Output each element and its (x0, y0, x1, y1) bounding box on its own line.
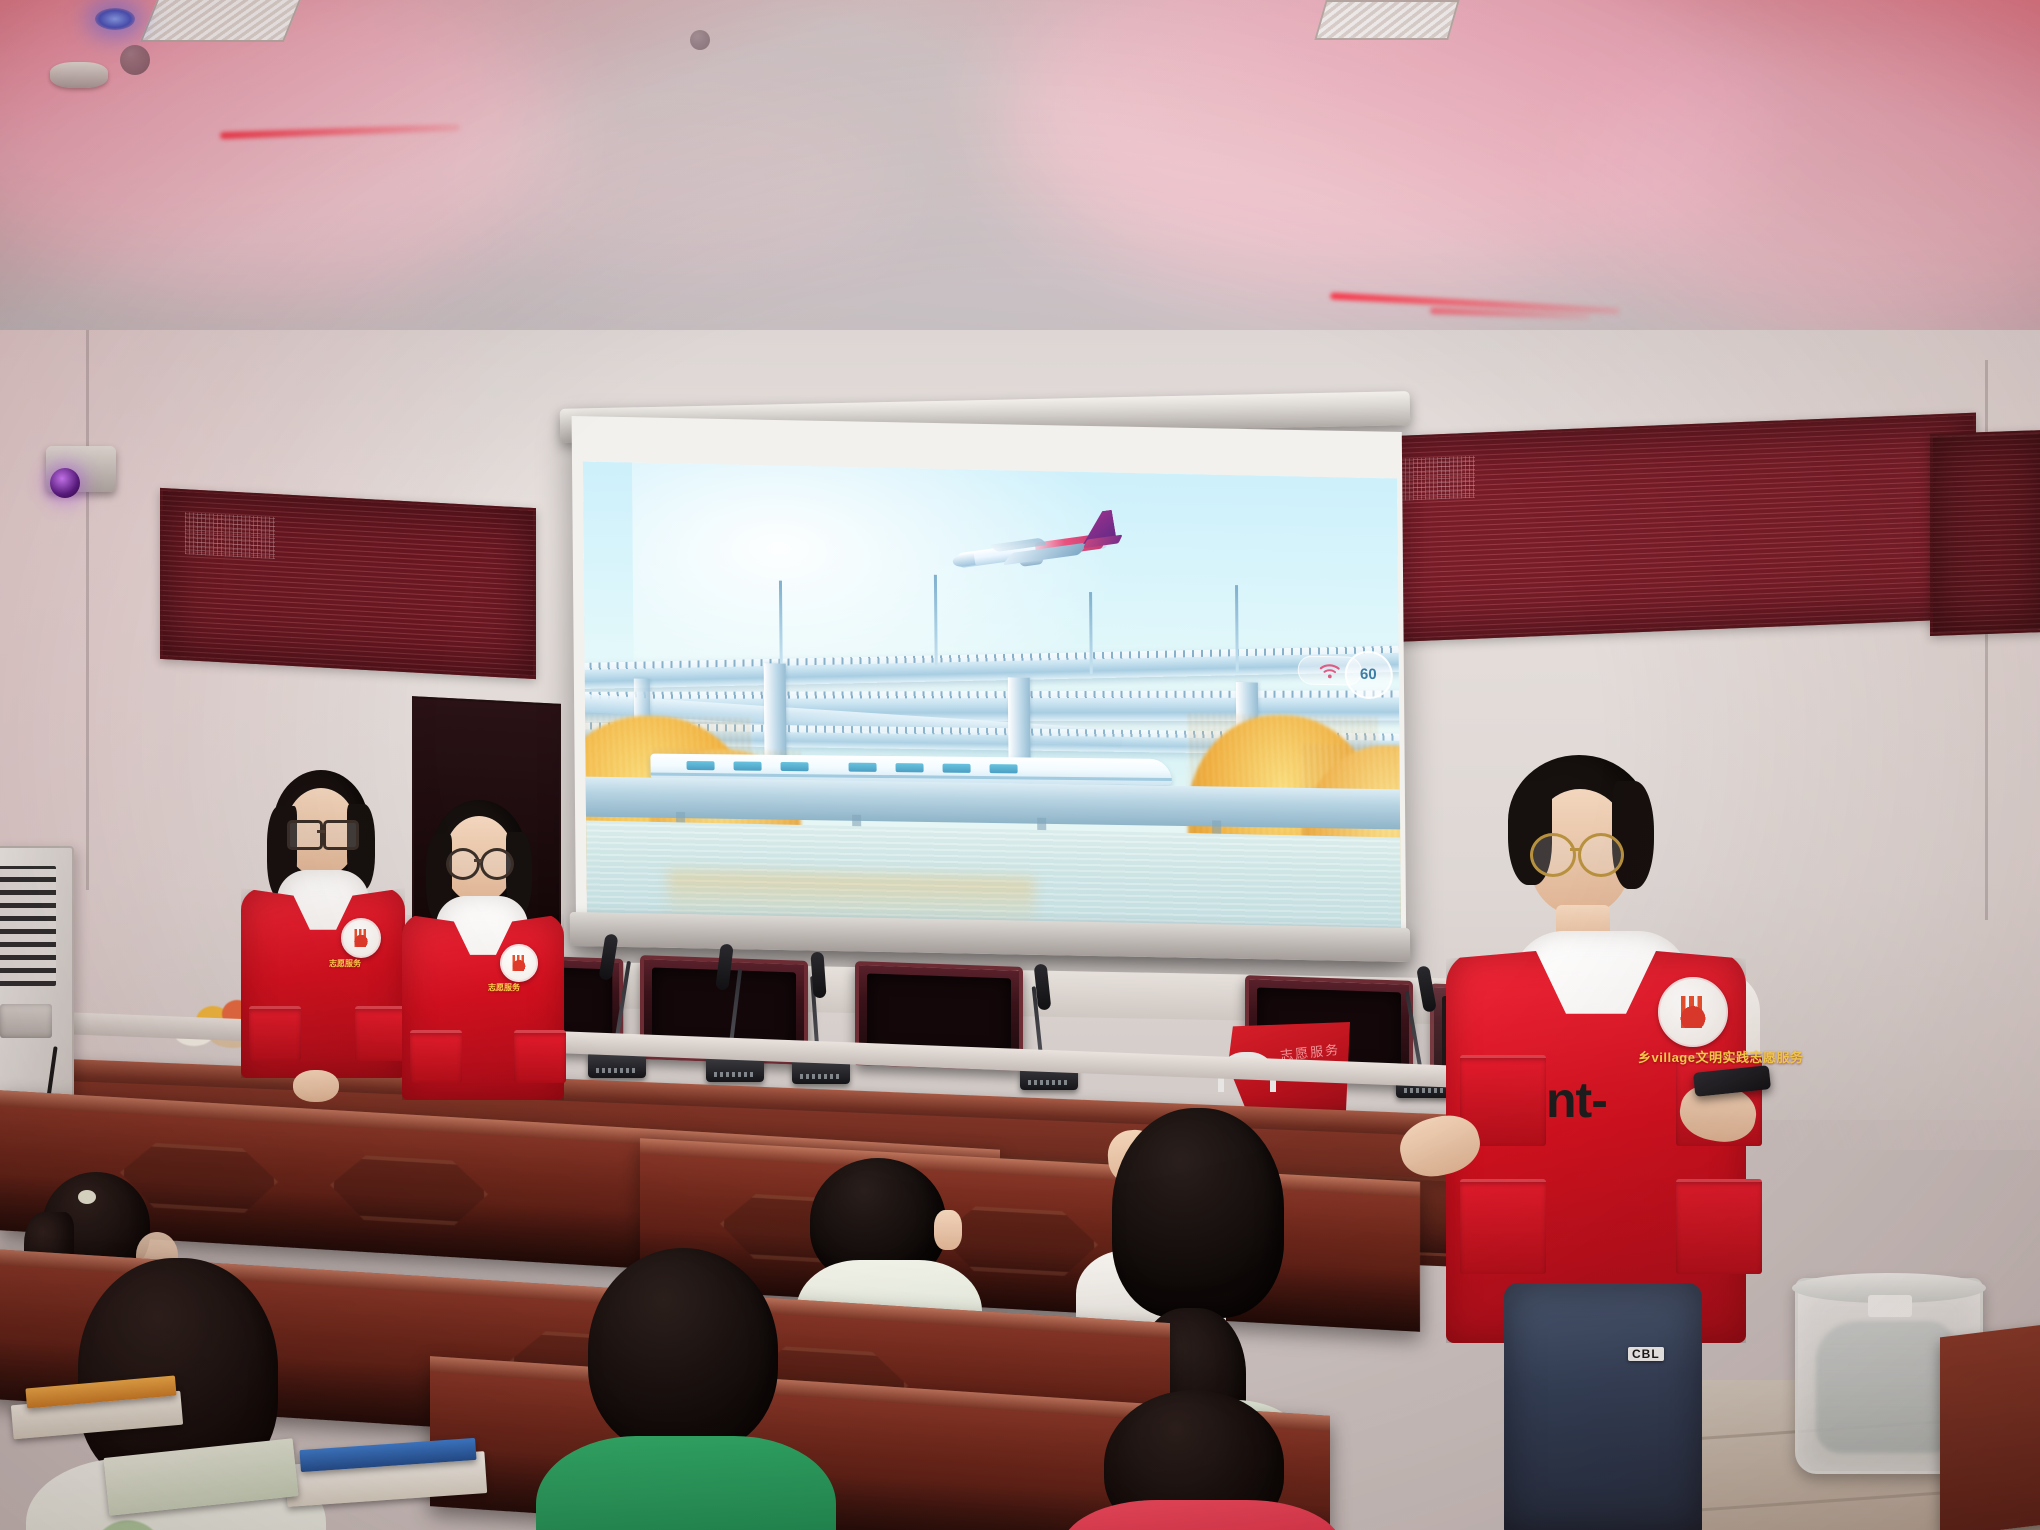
projector-lens-icon (50, 468, 80, 498)
train-window (942, 763, 970, 772)
volunteer-emblem-icon (509, 955, 529, 971)
acoustic-panel-right-edge (1930, 430, 2040, 636)
bin-liner (1816, 1321, 1956, 1453)
glasses-lens (323, 820, 359, 850)
glasses-bridge (474, 859, 482, 862)
air-vent-icon (140, 0, 304, 42)
blue-led-icon (95, 8, 135, 30)
train-window (989, 764, 1017, 773)
bin-handle (1868, 1295, 1912, 1317)
volunteer-emblem-icon (351, 929, 372, 946)
air-vent-icon (1314, 0, 1459, 40)
red-light-glow (480, 90, 900, 270)
vest-pocket (514, 1030, 566, 1083)
glasses-lens (1578, 833, 1624, 877)
train-window (849, 762, 877, 771)
vest-pocket (410, 1030, 462, 1083)
mic-led-strip (800, 1074, 840, 1079)
mic-led-strip (714, 1072, 754, 1077)
tshirt-text: nt- (1546, 1071, 1607, 1129)
jeans (1504, 1283, 1702, 1530)
vest-pocket (1676, 1179, 1762, 1274)
light-reflection (220, 124, 460, 139)
wifi-glyph (1319, 663, 1341, 679)
badge-label: 志愿服务 (329, 958, 361, 969)
glasses-lens (287, 820, 323, 850)
badge-label: 乡village文明实践志愿服务 (1638, 1047, 1803, 1066)
train-window (781, 761, 809, 770)
smoke-sensor-icon (690, 30, 710, 50)
volunteer-emblem-icon (1674, 996, 1712, 1028)
viaduct-railing (583, 690, 1401, 699)
vest-pocket (1460, 1179, 1546, 1274)
mic-led-strip (1404, 1088, 1444, 1093)
hands (293, 1070, 339, 1102)
badge-label: 志愿服务 (488, 982, 520, 993)
mic-led-strip (596, 1068, 636, 1073)
red-light-glow (1600, 30, 2040, 330)
glasses-lens (446, 848, 480, 880)
glasses-lens (480, 848, 514, 880)
jeans-brand-label: CBL (1628, 1347, 1664, 1361)
train-window (895, 763, 923, 772)
volunteer-badge (341, 918, 381, 958)
projection-screen[interactable]: 60 (583, 461, 1401, 938)
wall-seam (86, 330, 89, 890)
ac-grille (0, 866, 56, 986)
red-light-glow (1000, 0, 1760, 290)
glasses-lens (1530, 833, 1576, 877)
hair (588, 1248, 778, 1454)
smoke-sensor-icon (120, 45, 150, 75)
acoustic-panel-right (1360, 413, 1976, 644)
student-shirt (536, 1436, 836, 1530)
hair (1112, 1108, 1284, 1318)
panel-mesh-texture (185, 512, 275, 559)
red-light-glow (0, 0, 560, 290)
side-desk (1940, 1323, 2040, 1530)
screen-badge[interactable]: 60 (1344, 650, 1392, 699)
train-window (734, 761, 762, 770)
volunteer-badge (500, 944, 538, 982)
ear (934, 1210, 962, 1250)
hair-side (1612, 781, 1654, 889)
train-window (687, 760, 715, 769)
hair-tie (78, 1190, 96, 1204)
glasses-bridge (317, 830, 325, 833)
vest-pocket (355, 1006, 407, 1061)
vest-pocket (249, 1006, 301, 1061)
ceiling (0, 0, 2040, 360)
mic-led-strip (1028, 1080, 1068, 1085)
presenter-badge (1658, 977, 1728, 1047)
classroom-presentation-scene: 60 志愿服务 (0, 0, 2040, 1530)
glasses-bridge (1570, 848, 1580, 851)
acoustic-panel-left (160, 488, 536, 679)
ceiling-speaker-icon (50, 62, 108, 88)
ac-display (0, 1004, 52, 1038)
